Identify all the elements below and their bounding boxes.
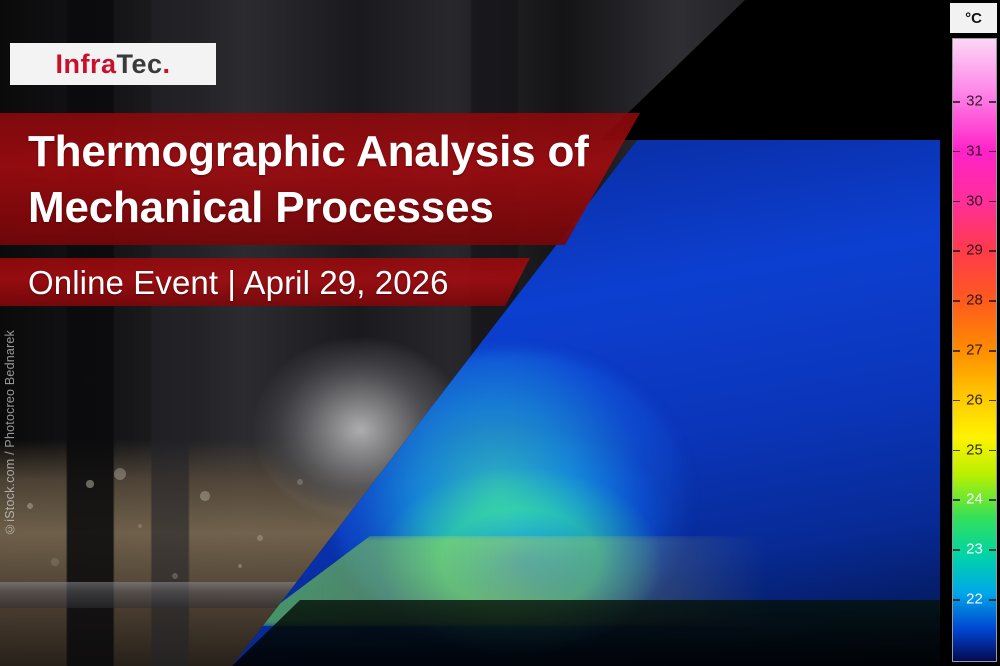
scale-unit-label: °C xyxy=(950,3,997,33)
infratec-logo: InfraTec. xyxy=(10,43,216,85)
event-subtitle: Online Event | April 29, 2026 xyxy=(28,263,548,303)
title-line-1: Thermographic Analysis of xyxy=(28,124,668,180)
page-title: Thermographic Analysis of Mechanical Pro… xyxy=(28,124,668,237)
scale-colorbar: 3231302928272625242322 xyxy=(952,38,997,662)
logo-wordmark: InfraTec. xyxy=(55,51,170,78)
title-line-2: Mechanical Processes xyxy=(28,180,668,236)
temperature-scale: °C 3231302928272625242322 xyxy=(947,0,1000,666)
logo-dot: . xyxy=(163,49,171,79)
credit-left: ©iStock.com / Photocreo Bednarek xyxy=(3,330,17,536)
logo-text-infra: Infra xyxy=(55,49,116,79)
logo-text-tec: Tec xyxy=(116,49,162,79)
promo-banner-image: InfraTec. Thermographic Analysis of Mech… xyxy=(0,0,1000,666)
